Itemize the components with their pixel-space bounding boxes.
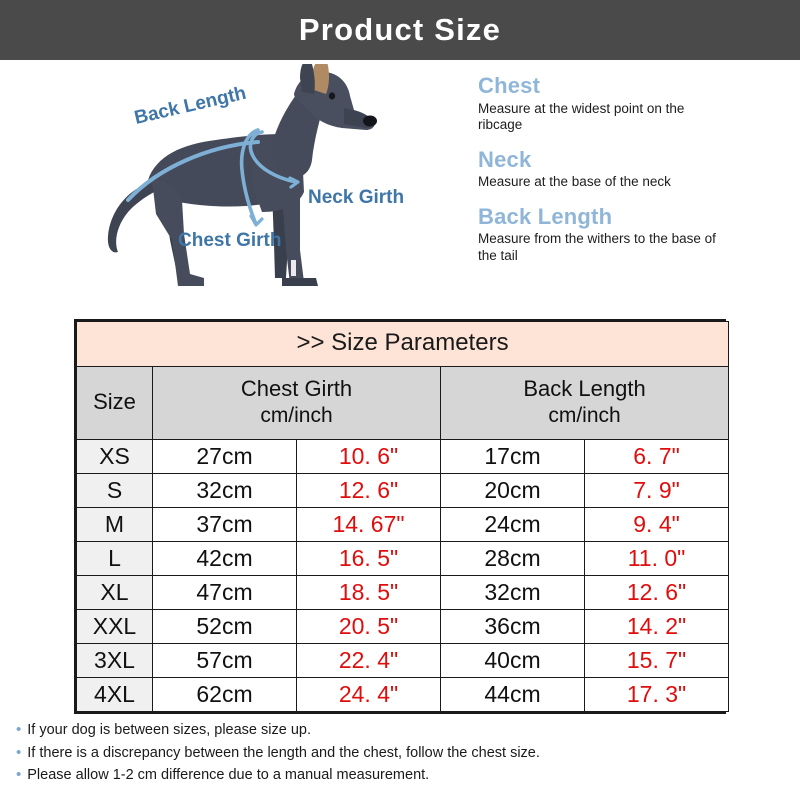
bullet-icon: •: [16, 722, 21, 737]
cell-chest-inch: 14. 67": [297, 507, 441, 541]
table-row: XXL 52cm 20. 5" 36cm 14. 2": [77, 609, 729, 643]
dog-paw-marking: [291, 260, 296, 276]
cell-back-inch: 12. 6": [585, 575, 729, 609]
table-row: 4XL 62cm 24. 4" 44cm 17. 3": [77, 677, 729, 711]
column-header-back-length-label: Back Length: [523, 376, 645, 401]
page-header: Product Size: [0, 0, 800, 60]
cell-back-cm: 20cm: [441, 473, 585, 507]
table-row: XL 47cm 18. 5" 32cm 12. 6": [77, 575, 729, 609]
definition-neck-title: Neck: [478, 148, 794, 173]
bullet-icon: •: [16, 767, 21, 782]
cell-size: L: [77, 541, 153, 575]
cell-chest-cm: 37cm: [153, 507, 297, 541]
note-text: If your dog is between sizes, please siz…: [27, 722, 311, 739]
table-row: XS 27cm 10. 6" 17cm 6. 7": [77, 439, 729, 473]
dog-eye: [329, 92, 335, 99]
cell-back-cm: 32cm: [441, 575, 585, 609]
cell-back-cm: 17cm: [441, 439, 585, 473]
chest-girth-label: Chest Girth: [178, 230, 281, 251]
table-row: M 37cm 14. 67" 24cm 9. 4": [77, 507, 729, 541]
cell-back-inch: 17. 3": [585, 677, 729, 711]
dog-ear-outer: [300, 64, 315, 94]
table-title: >> Size Parameters: [77, 322, 729, 367]
cell-chest-inch: 22. 4": [297, 643, 441, 677]
cell-size: 3XL: [77, 643, 153, 677]
table-row: L 42cm 16. 5" 28cm 11. 0": [77, 541, 729, 575]
cell-chest-inch: 12. 6": [297, 473, 441, 507]
table-title-row: >> Size Parameters: [77, 322, 729, 367]
cell-size: XL: [77, 575, 153, 609]
table-row: 3XL 57cm 22. 4" 40cm 15. 7": [77, 643, 729, 677]
dog-nose: [363, 116, 377, 127]
table-header-row: Size Chest Girth cm/inch Back Length cm/…: [77, 367, 729, 440]
column-header-size: Size: [77, 367, 153, 440]
column-header-chest-girth: Chest Girth cm/inch: [153, 367, 441, 440]
cell-chest-cm: 47cm: [153, 575, 297, 609]
note-item: • If there is a discrepancy between the …: [16, 745, 786, 762]
table-row: S 32cm 12. 6" 20cm 7. 9": [77, 473, 729, 507]
size-parameters-table: >> Size Parameters Size Chest Girth cm/i…: [74, 319, 726, 714]
note-item: • If your dog is between sizes, please s…: [16, 722, 786, 739]
cell-back-inch: 7. 9": [585, 473, 729, 507]
measurement-diagram-section: Back Length Neck Girth Chest Girth Chest…: [0, 60, 800, 308]
cell-chest-cm: 52cm: [153, 609, 297, 643]
definition-back-length-description: Measure from the withers to the base of …: [478, 231, 730, 264]
dog-measurement-diagram: Back Length Neck Girth Chest Girth: [86, 64, 466, 304]
cell-chest-cm: 42cm: [153, 541, 297, 575]
cell-size: XXL: [77, 609, 153, 643]
cell-back-cm: 36cm: [441, 609, 585, 643]
cell-back-inch: 9. 4": [585, 507, 729, 541]
cell-chest-inch: 16. 5": [297, 541, 441, 575]
column-header-back-length-unit: cm/inch: [443, 403, 726, 429]
definition-neck-description: Measure at the base of the neck: [478, 174, 730, 190]
cell-size: 4XL: [77, 677, 153, 711]
cell-size: S: [77, 473, 153, 507]
note-item: • Please allow 1-2 cm difference due to …: [16, 767, 786, 784]
definition-chest: Chest Measure at the widest point on the…: [478, 74, 794, 134]
note-text: If there is a discrepancy between the le…: [27, 745, 540, 762]
footer-notes: • If your dog is between sizes, please s…: [16, 722, 786, 790]
cell-back-cm: 44cm: [441, 677, 585, 711]
cell-chest-inch: 24. 4": [297, 677, 441, 711]
cell-back-inch: 14. 2": [585, 609, 729, 643]
back-length-label: Back Length: [132, 83, 248, 129]
chest-girth-arrow: [251, 216, 262, 225]
size-table-body: >> Size Parameters Size Chest Girth cm/i…: [77, 322, 729, 712]
definition-back-length: Back Length Measure from the withers to …: [478, 205, 794, 265]
neck-girth-label: Neck Girth: [308, 187, 404, 208]
measurement-definitions: Chest Measure at the widest point on the…: [478, 74, 794, 264]
cell-chest-cm: 27cm: [153, 439, 297, 473]
definition-back-length-title: Back Length: [478, 205, 794, 230]
cell-chest-inch: 10. 6": [297, 439, 441, 473]
definition-neck: Neck Measure at the base of the neck: [478, 148, 794, 191]
cell-size: XS: [77, 439, 153, 473]
cell-back-cm: 24cm: [441, 507, 585, 541]
cell-back-cm: 40cm: [441, 643, 585, 677]
cell-back-inch: 11. 0": [585, 541, 729, 575]
cell-back-cm: 28cm: [441, 541, 585, 575]
cell-chest-cm: 62cm: [153, 677, 297, 711]
cell-size: M: [77, 507, 153, 541]
dog-front-paw: [282, 278, 318, 286]
cell-back-inch: 15. 7": [585, 643, 729, 677]
note-text: Please allow 1-2 cm difference due to a …: [27, 767, 429, 784]
column-header-back-length: Back Length cm/inch: [441, 367, 729, 440]
cell-chest-cm: 32cm: [153, 473, 297, 507]
page-title: Product Size: [299, 12, 501, 48]
cell-back-inch: 6. 7": [585, 439, 729, 473]
bullet-icon: •: [16, 745, 21, 760]
column-header-chest-girth-label: Chest Girth: [241, 376, 352, 401]
cell-chest-inch: 18. 5": [297, 575, 441, 609]
cell-chest-inch: 20. 5": [297, 609, 441, 643]
definition-chest-description: Measure at the widest point on the ribca…: [478, 101, 730, 134]
cell-chest-cm: 57cm: [153, 643, 297, 677]
definition-chest-title: Chest: [478, 74, 794, 99]
column-header-chest-girth-unit: cm/inch: [155, 403, 438, 429]
